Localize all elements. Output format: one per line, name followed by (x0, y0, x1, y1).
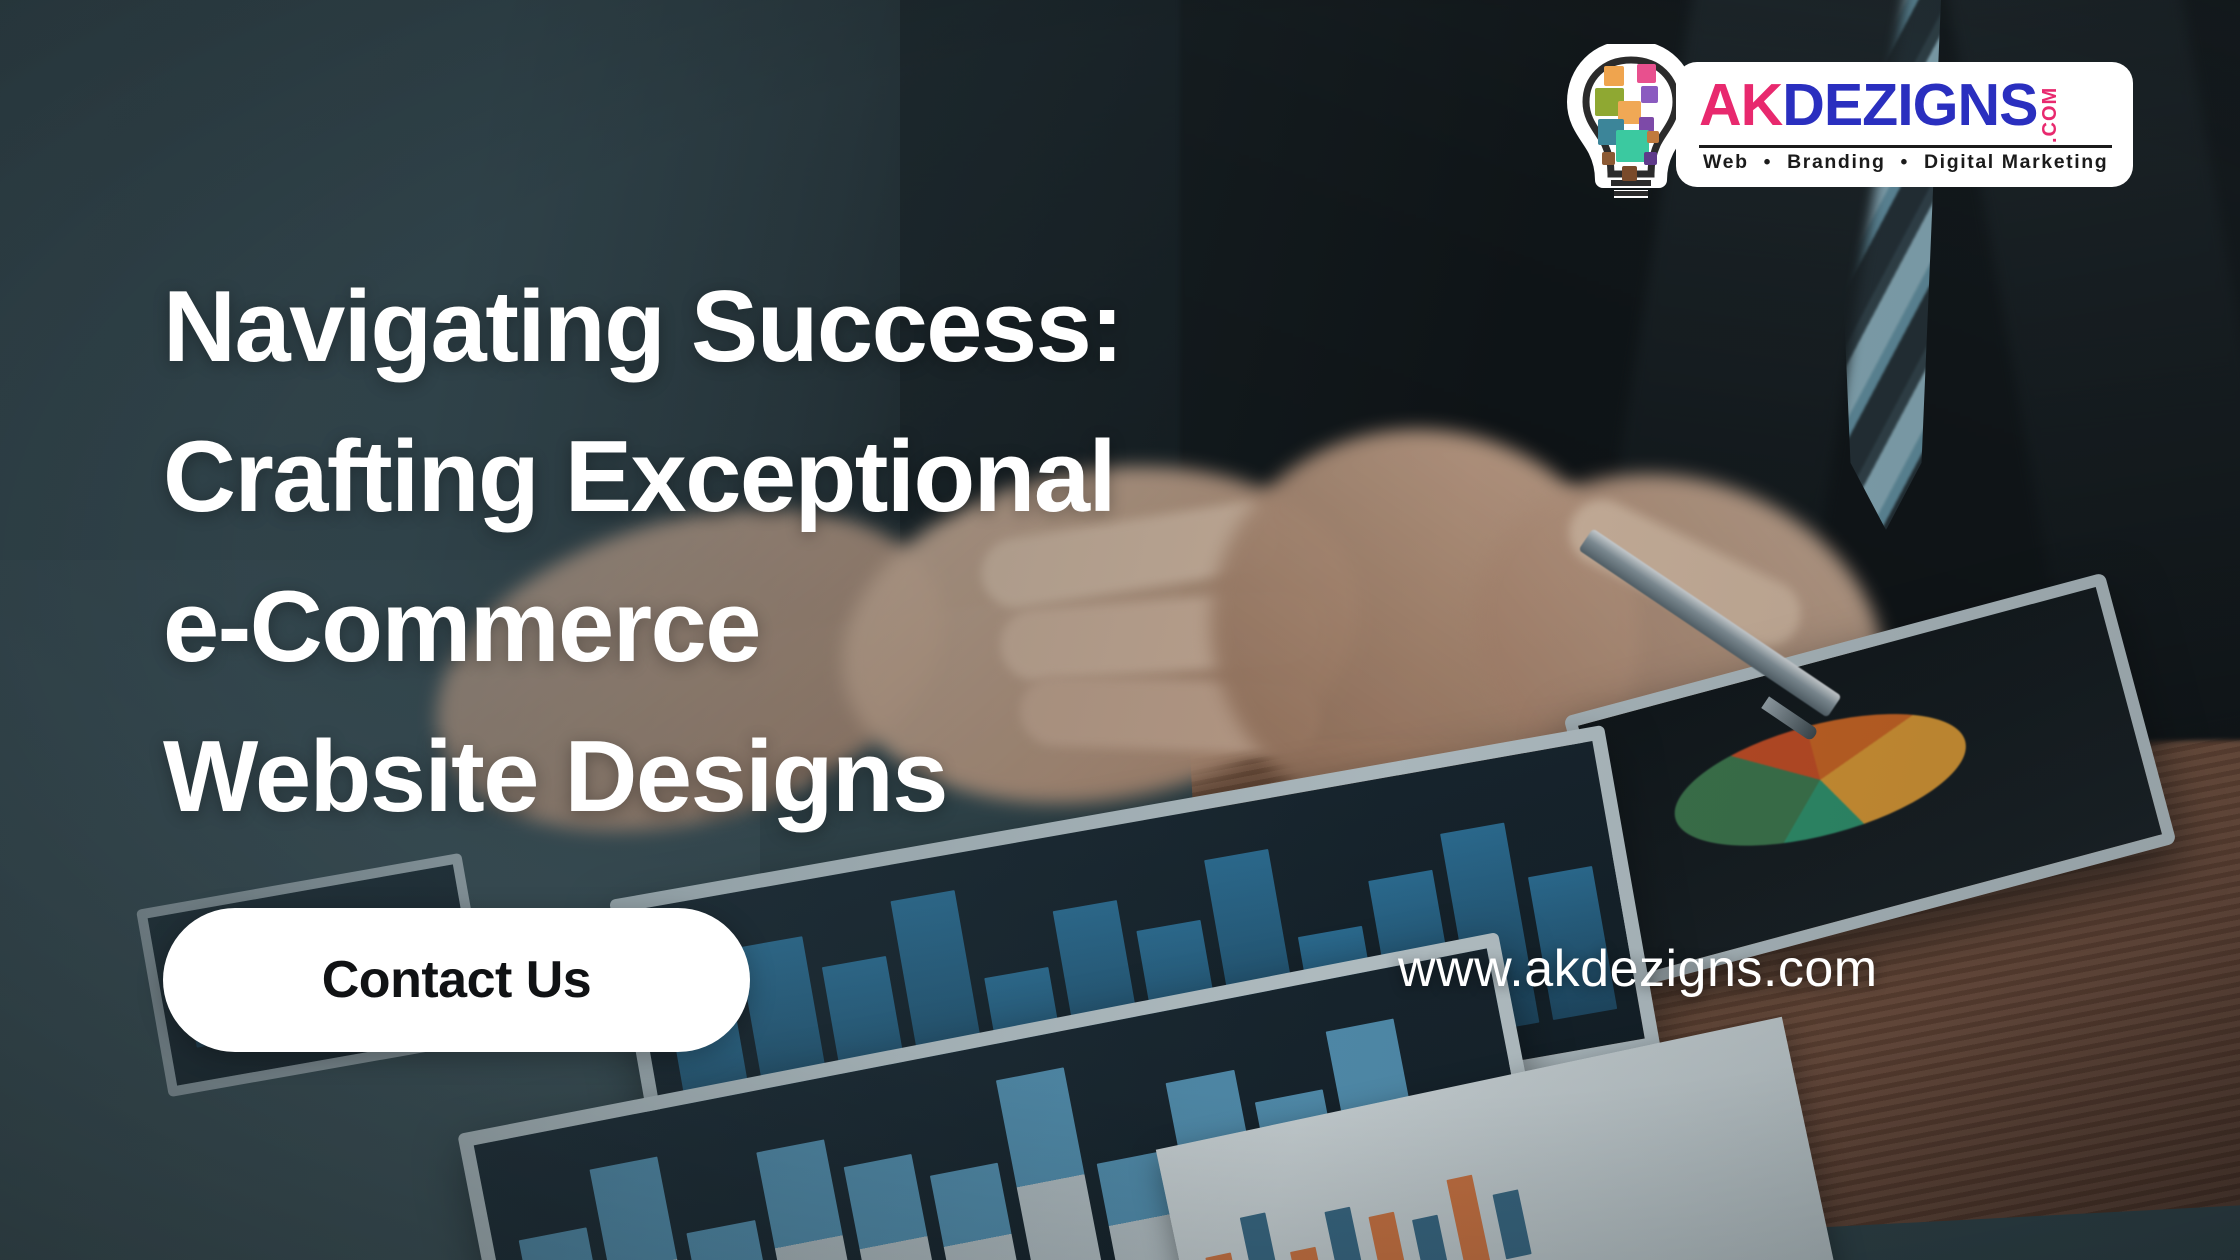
headline-line-4: Website Designs (163, 702, 1523, 852)
contact-us-label: Contact Us (322, 950, 591, 1010)
logo-text-ak: AK (1699, 77, 1782, 135)
brand-logo[interactable]: AK DEZIGNS .COM Web • Branding • Digital… (1565, 44, 2126, 204)
lightbulb-icon (1565, 44, 1697, 204)
logo-text-dotcom: .COM (2040, 79, 2060, 143)
logo-wordmark-row: AK DEZIGNS .COM (1699, 77, 2112, 143)
headline-line-1: Navigating Success: (163, 252, 1523, 402)
bulb-square-brown-3 (1622, 166, 1637, 181)
tagline-marketing: Digital Marketing (1924, 151, 2108, 173)
bulb-square-brown-2 (1602, 152, 1615, 165)
logo-divider-rule (1699, 145, 2112, 148)
bulb-square-purple-3 (1644, 152, 1657, 165)
logo-tagline: Web • Branding • Digital Marketing (1699, 151, 2112, 174)
headline-line-2: Crafting Exceptional (163, 402, 1523, 552)
bulb-square-purple-1 (1641, 86, 1658, 103)
tagline-sep-1: • (1764, 151, 1772, 173)
tagline-branding: Branding (1787, 151, 1885, 173)
logo-text-dezigns: DEZIGNS (1782, 77, 2037, 135)
marketing-banner: AK DEZIGNS .COM Web • Branding • Digital… (0, 0, 2240, 1260)
contact-us-button[interactable]: Contact Us (163, 908, 750, 1052)
hero-headline: Navigating Success: Crafting Exceptional… (163, 252, 1523, 852)
logo-wordmark-plate: AK DEZIGNS .COM Web • Branding • Digital… (1683, 69, 2126, 180)
website-url[interactable]: www.akdezigns.com (1398, 939, 1878, 999)
bulb-square-orange-1 (1604, 66, 1624, 86)
headline-line-3: e-Commerce (163, 552, 1523, 702)
tagline-sep-2: • (1901, 151, 1909, 173)
tagline-web: Web (1703, 151, 1749, 173)
bulb-square-brown-1 (1647, 131, 1659, 143)
bulb-square-pink (1637, 64, 1656, 83)
